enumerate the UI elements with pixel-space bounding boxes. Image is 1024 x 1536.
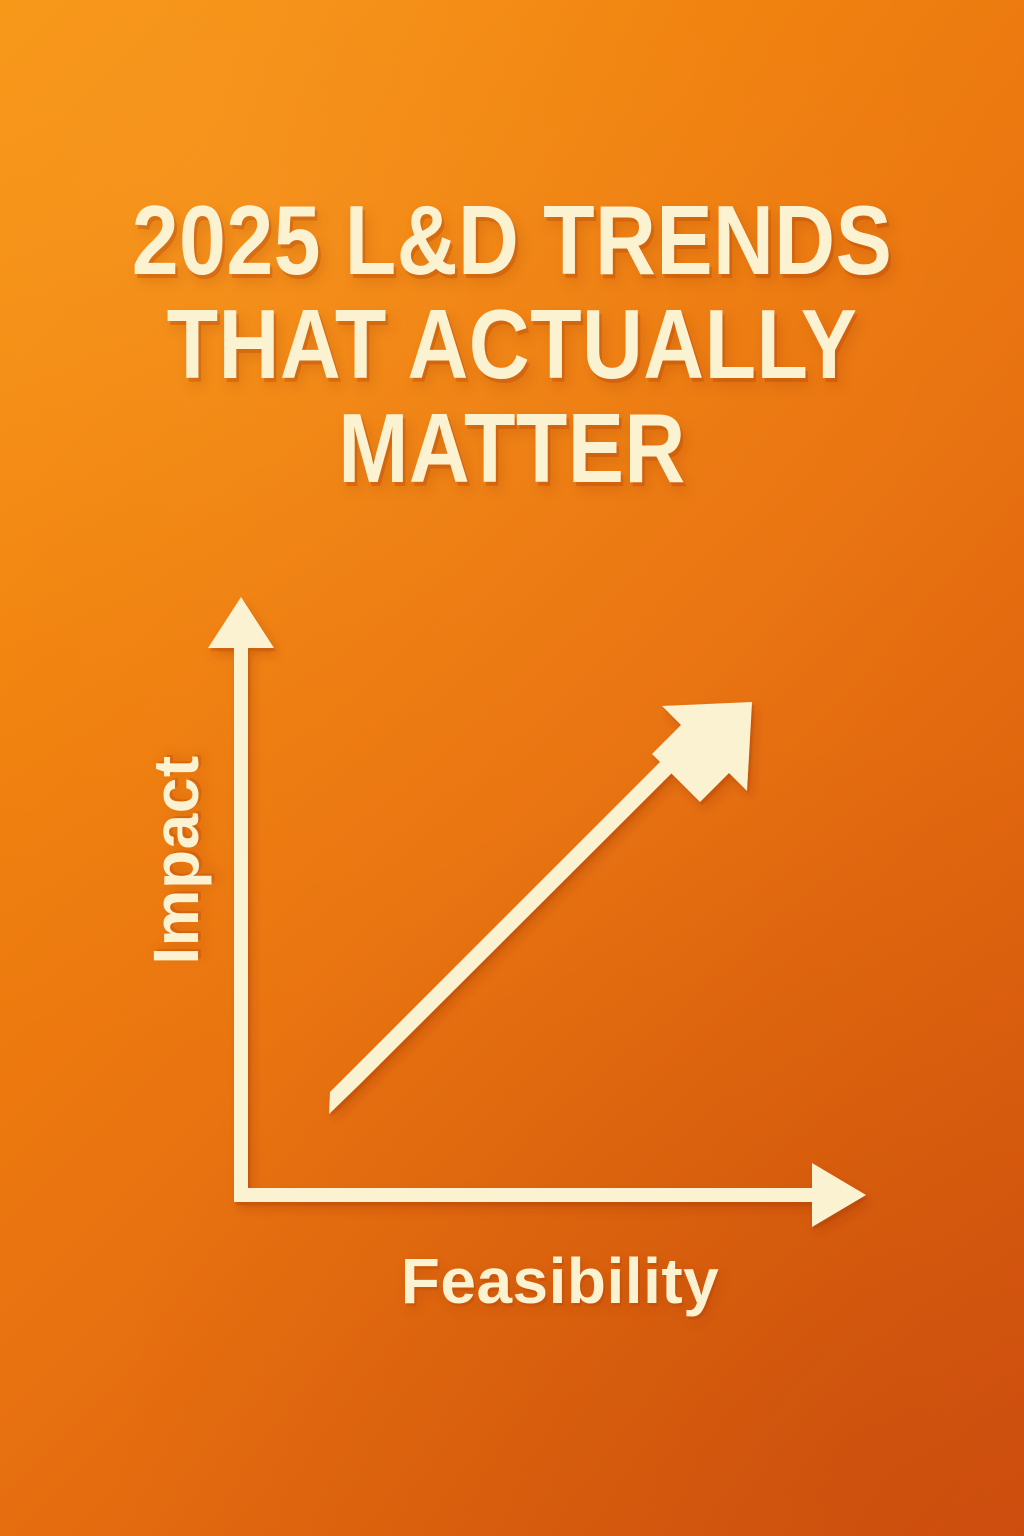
poster-canvas: 2025 L&D TRENDS THAT ACTUALLY MATTER (0, 0, 1024, 1536)
y-axis-label: Impact (144, 755, 208, 964)
title-line-3: MATTER (72, 396, 953, 500)
title-line-1: 2025 L&D TRENDS (72, 188, 953, 292)
y-axis-arrow-up-icon (208, 597, 274, 1200)
title-line-2: THAT ACTUALLY (72, 292, 953, 396)
page-title: 2025 L&D TRENDS THAT ACTUALLY MATTER (0, 188, 1024, 500)
x-axis-label: Feasibility (401, 1249, 720, 1313)
x-axis-arrow-right-icon (234, 1163, 866, 1227)
